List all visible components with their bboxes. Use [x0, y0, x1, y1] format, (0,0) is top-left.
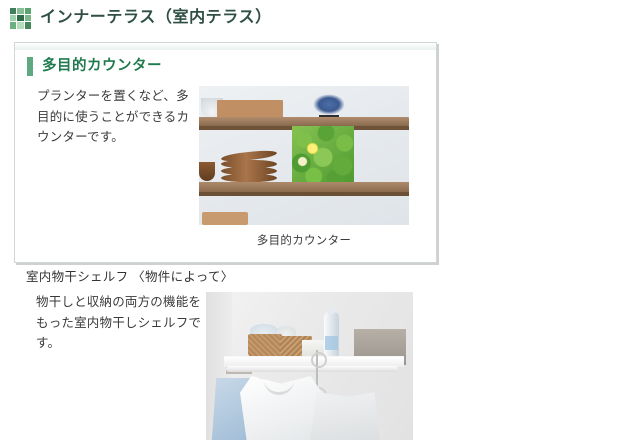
page-header: インナーテラス（室内テラス） — [0, 0, 640, 30]
photo-lower-shelf-edge — [199, 192, 409, 196]
card-description: プランターを置くなど、多目的に使うことができるカウンターです。 — [15, 86, 193, 248]
photo-white-flower — [297, 156, 308, 167]
photo-detergent-bottle — [324, 312, 339, 357]
indoor-laundry-shelf-photo — [206, 292, 413, 440]
card-body: プランターを置くなど、多目的に使うことができるカウンターです。 多目的カウ — [15, 76, 436, 248]
photo-hanger-ring-top — [311, 352, 327, 368]
photo-lower-shelf — [199, 182, 409, 192]
card-subtitle-row: 多目的カウンター — [15, 50, 436, 76]
section2-title: 室内物干シェルフ 〈物件によって〉 — [14, 270, 626, 285]
photo-grey-garment — [310, 392, 380, 440]
card-figure: 多目的カウンター — [199, 86, 409, 248]
photo-hanging-rail — [226, 366, 398, 372]
page-title: インナーテラス（室内テラス） — [40, 10, 272, 26]
multipurpose-counter-card: 多目的カウンター プランターを置くなど、多目的に使うことができるカウンターです。 — [14, 42, 437, 263]
photo-wicker-basket-1 — [248, 334, 282, 357]
section2-body: 物干しと収納の両方の機能をもった室内物干しシェルフです。 — [14, 292, 626, 440]
photo-cutting-board — [217, 100, 283, 118]
photo-wooden-bowl — [199, 162, 215, 181]
photo-bottle-label — [325, 336, 338, 350]
card-top-band — [15, 43, 436, 50]
photo-blue-plate — [313, 94, 345, 115]
photo-caption: 多目的カウンター — [199, 225, 409, 248]
photo-wooden-plates — [221, 152, 277, 182]
photo-lower-board — [202, 212, 248, 225]
photo-upper-shelf — [199, 117, 409, 126]
photo-yellow-flower — [306, 142, 319, 155]
section2-description: 物干しと収納の両方の機能をもった室内物干しシェルフです。 — [14, 292, 206, 440]
multipurpose-counter-photo — [199, 86, 409, 225]
photo-green-plant — [292, 126, 354, 183]
card-subtitle: 多目的カウンター — [42, 59, 162, 74]
indoor-laundry-shelf-section: 室内物干シェルフ 〈物件によって〉 物干しと収納の両方の機能をもった室内物干しシ… — [14, 270, 626, 440]
accent-bar — [27, 57, 33, 76]
grid-icon — [10, 8, 31, 29]
